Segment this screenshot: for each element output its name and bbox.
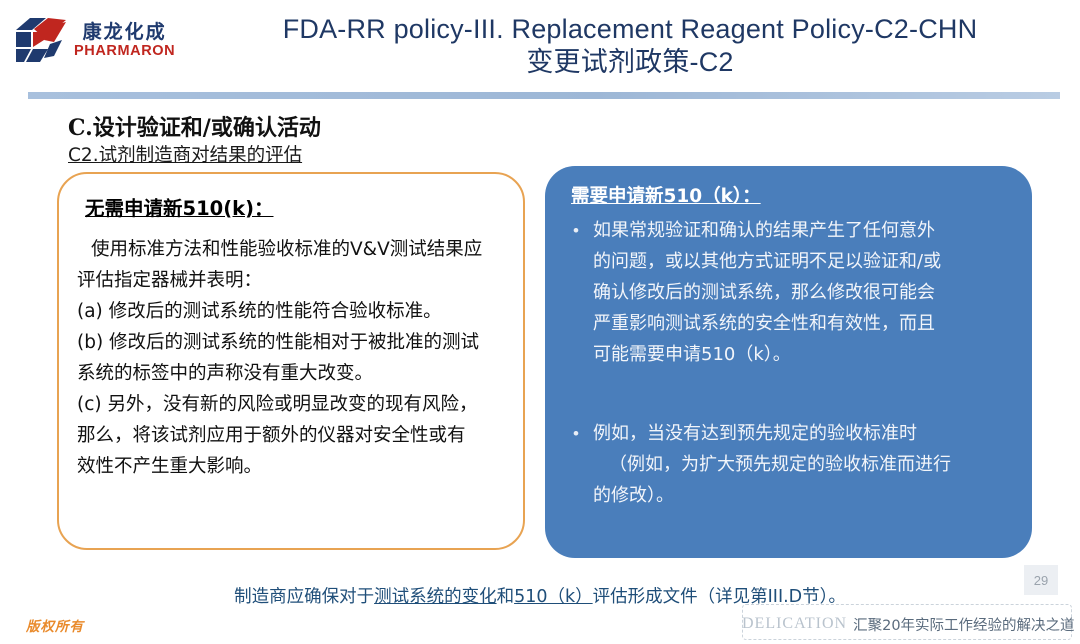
section-subheading: C2.试剂制造商对结果的评估	[68, 141, 302, 167]
footer-note-part-2: 和	[497, 587, 515, 607]
left-card-line: (a) 修改后的测试系统的性能符合验收标准。	[77, 297, 507, 327]
bullet-line: 确认修改后的测试系统，那么修改很可能会	[593, 278, 1012, 309]
slide-canvas: 康龙化成 PHARMARON FDA-RR policy-III. Replac…	[0, 0, 1080, 644]
bullet-line: （例如，为扩大预先规定的验收标准而进行	[593, 450, 1012, 481]
bullet-line: 如果常规验证和确认的结果产生了任何意外	[593, 216, 1012, 247]
bullet-line: 可能需要申请510（k）。	[593, 340, 1012, 371]
pharmaron-logo: 康龙化成 PHARMARON	[14, 12, 194, 70]
requires-new-510k-card: 需要申请新510（k）： • 如果常规验证和确认的结果产生了任何意外 的问题，或…	[545, 166, 1032, 558]
watermark-slogan: 汇聚20年实际工作经验的解决之道	[853, 614, 1074, 635]
left-card-line: 评估指定器械并表明：	[77, 266, 507, 296]
footer-link-510k: 510（k）	[514, 587, 593, 607]
footer-note-part-1: 制造商应确保对于	[234, 587, 374, 607]
bullet-line: 的问题，或以其他方式证明不足以验证和/或	[593, 247, 1012, 278]
bullet-line: 严重影响测试系统的安全性和有效性，而且	[593, 309, 1012, 340]
left-card-line: 系统的标签中的声称没有重大改变。	[77, 359, 507, 389]
watermark-bar: DELICATION 汇聚20年实际工作经验的解决之道	[742, 608, 1072, 640]
bullet-text: 如果常规验证和确认的结果产生了任何意外 的问题，或以其他方式证明不足以验证和/或…	[593, 216, 1012, 371]
left-card-line: 效性不产生重大影响。	[77, 452, 507, 482]
page-title-line-1: FDA-RR policy-III. Replacement Reagent P…	[283, 14, 978, 44]
bullet-spacer	[567, 377, 1012, 419]
bullet-line: 例如，当没有达到预先规定的验收标准时	[593, 419, 1012, 450]
copyright-mark: 版权所有	[26, 615, 84, 635]
left-card-line: (c) 另外，没有新的风险或明显改变的现有风险，	[77, 390, 507, 420]
bullet-marker-icon: •	[567, 419, 593, 512]
bullet-line: 的修改）。	[593, 481, 1012, 512]
logo-english-name: PHARMARON	[74, 44, 175, 59]
left-card-line: 使用标准方法和性能验收标准的V&V测试结果应	[77, 235, 507, 265]
section-heading: C.设计验证和/或确认活动	[68, 110, 321, 142]
bullet-text: 例如，当没有达到预先规定的验收标准时 （例如，为扩大预先规定的验收标准而进行 的…	[593, 419, 1012, 512]
slide-header: 康龙化成 PHARMARON FDA-RR policy-III. Replac…	[0, 0, 1080, 92]
page-title: FDA-RR policy-III. Replacement Reagent P…	[190, 13, 1070, 79]
no-new-510k-card-title: 无需申请新510(k)：	[85, 192, 507, 221]
page-title-line-2: 变更试剂政策-C2	[190, 46, 1070, 79]
left-card-line: (b) 修改后的测试系统的性能相对于被批准的测试	[77, 328, 507, 358]
watermark-logo-text: DELICATION	[742, 615, 847, 633]
left-card-line: 那么，将该试剂应用于额外的仪器对安全性或有	[77, 421, 507, 451]
pharmaron-logo-text: 康龙化成 PHARMARON	[74, 23, 175, 59]
logo-chinese-name: 康龙化成	[83, 23, 167, 42]
list-item: • 例如，当没有达到预先规定的验收标准时 （例如，为扩大预先规定的验收标准而进行…	[567, 419, 1012, 512]
no-new-510k-card: 无需申请新510(k)： 使用标准方法和性能验收标准的V&V测试结果应 评估指定…	[57, 172, 525, 550]
requires-new-510k-card-title: 需要申请新510（k）：	[571, 182, 1012, 208]
footer-link-test-system-change: 测试系统的变化	[374, 587, 497, 607]
bullet-marker-icon: •	[567, 216, 593, 371]
list-item: • 如果常规验证和确认的结果产生了任何意外 的问题，或以其他方式证明不足以验证和…	[567, 216, 1012, 371]
header-divider	[28, 92, 1060, 99]
pharmaron-logo-mark-icon	[14, 16, 68, 66]
